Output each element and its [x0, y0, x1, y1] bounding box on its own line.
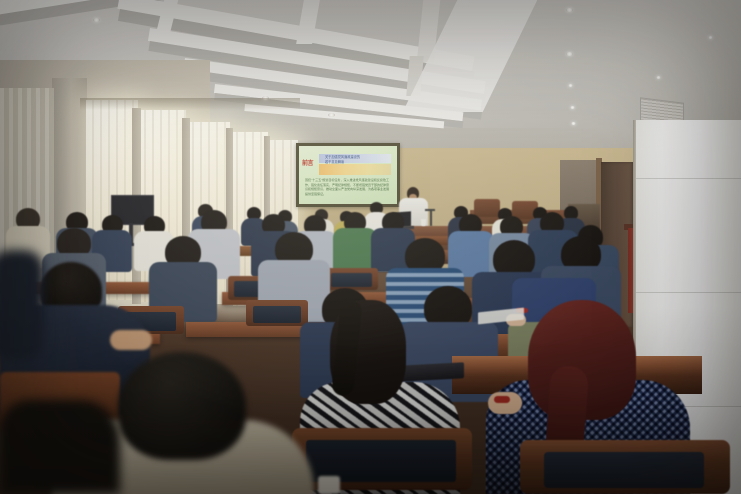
water-cup [421, 219, 426, 226]
slide-title: 前言 [302, 158, 313, 167]
slide-body-text: 围绕“十三五”规划目标任务，深入推进党风廉政建设和反腐败工作，强化责任落实，严明… [305, 178, 389, 196]
downlight-5 [566, 8, 573, 12]
column-seam-1 [636, 178, 741, 179]
projection-screen: 前言 关于加强党风廉政建设的 若干意见解读 围绕“十三五”规划目标任务，深入推进… [299, 146, 397, 204]
downlight-10 [708, 36, 713, 39]
chair-pad-4b [253, 306, 301, 323]
downlight-9 [571, 122, 576, 125]
attendee-navy-arm [110, 330, 152, 350]
projection-screen-frame: 前言 关于加强党风廉政建设的 若干意见解读 围绕“十三五”规划目标任务，深入推进… [296, 143, 400, 207]
curtain-valance-shadow [80, 98, 300, 110]
downlight-11 [656, 76, 661, 79]
red-bracelet [494, 396, 510, 403]
slide-banner-text: 关于加强党风廉政建设的 若干意见解读 [325, 155, 360, 165]
chair-pad-3b [331, 273, 372, 287]
foreground-chair-right-pad [544, 452, 704, 488]
microphone-stand [430, 210, 432, 226]
meeting-room-photo: 前言 关于加强党风廉政建设的 若干意见解读 围绕“十三五”规划目标任务，深入推进… [0, 0, 741, 494]
slide-banner-line2: 若干意见解读 [325, 160, 360, 165]
cup-foreground [318, 476, 340, 494]
front-chair-1[interactable] [474, 199, 500, 217]
attendee-beige-jacket-head [118, 352, 246, 460]
foreground-dark-mass-edge [0, 250, 44, 360]
foreground-dark-mass-left [0, 400, 120, 494]
downlight-7 [568, 84, 573, 87]
column-seam-2 [636, 292, 741, 293]
downlight-8 [570, 106, 575, 109]
slide-banner-bottom [319, 164, 391, 175]
downlight-6 [566, 52, 573, 56]
downlight-4 [328, 113, 335, 117]
downlight-1 [93, 18, 100, 22]
